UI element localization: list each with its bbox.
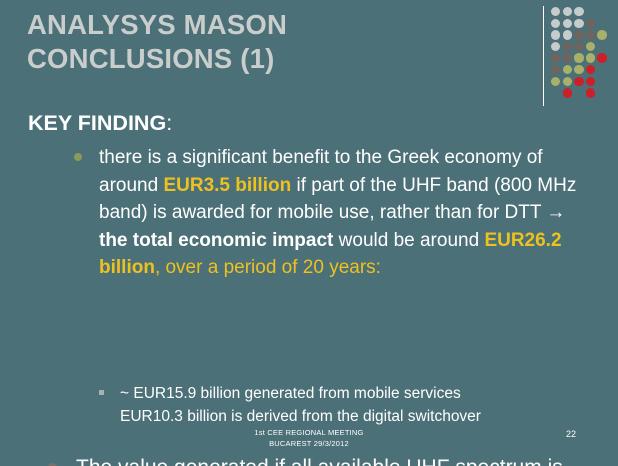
title-block: ANALYSYS MASON CONCLUSIONS (1): [27, 8, 527, 76]
text-run: →: [546, 202, 565, 223]
logo-dot: [586, 53, 595, 62]
logo-dot: [563, 53, 572, 62]
logo-dot: [574, 77, 583, 86]
logo-dot: [574, 42, 583, 51]
page-number: 22: [566, 429, 576, 439]
logo-dot: [597, 53, 606, 62]
logo-dot: [563, 77, 572, 86]
list-item: The value generated if all available UHF…: [48, 453, 618, 466]
sub-bullet-text: ~ EUR15.9 billion generated from mobile …: [120, 382, 580, 428]
text-run: would be around: [333, 230, 484, 251]
logo-dot: [586, 88, 595, 97]
logo-dot: [586, 42, 595, 51]
logo-dot: [574, 19, 583, 28]
text-run: The value generated if all available UHF…: [76, 456, 563, 466]
analysys-mason-dot-logo: [551, 7, 609, 99]
final-bullet-text: The value generated if all available UHF…: [76, 453, 616, 466]
key-finding-label: KEY FINDING: [28, 111, 166, 135]
logo-dot: [586, 77, 595, 86]
logo-dot: [551, 77, 560, 86]
header-divider: [543, 6, 544, 106]
logo-dot: [574, 30, 583, 39]
logo-dot: [551, 30, 560, 39]
sub-bullet-line: EUR10.3 billion is derived from the digi…: [120, 405, 580, 428]
text-run: EUR3.5 billion: [163, 175, 291, 196]
logo-dot: [563, 19, 572, 28]
text-run: the total economic impact: [99, 230, 333, 251]
logo-dot: [563, 65, 572, 74]
logo-dot: [586, 19, 595, 28]
text-run: , over a period of 20 years:: [155, 257, 381, 278]
sub-bullet-line: ~ EUR15.9 billion generated from mobile …: [120, 382, 580, 405]
logo-dot: [563, 42, 572, 51]
logo-dot: [563, 30, 572, 39]
logo-dot: [551, 19, 560, 28]
key-finding-colon: :: [166, 111, 172, 135]
footer-meeting-text: 1st CEE REGIONAL MEETING BUCAREST 29/3/2…: [0, 428, 618, 449]
logo-dot: [551, 7, 560, 16]
list-item: ~ EUR15.9 billion generated from mobile …: [99, 382, 599, 428]
logo-dot: [586, 30, 595, 39]
logo-dot: [551, 42, 560, 51]
list-item: there is a significant benefit to the Gr…: [74, 144, 594, 282]
page-title: ANALYSYS MASON CONCLUSIONS (1): [27, 8, 527, 76]
bullet-square-icon: [99, 390, 104, 395]
logo-dot: [574, 65, 583, 74]
logo-dot: [586, 65, 595, 74]
primary-bullet-text: there is a significant benefit to the Gr…: [99, 144, 583, 282]
key-finding-heading: KEY FINDING:: [28, 110, 172, 136]
bullet-dot-icon: [74, 153, 82, 161]
slide-canvas: ANALYSYS MASON CONCLUSIONS (1) KEY FINDI…: [0, 0, 618, 466]
logo-dot: [574, 7, 583, 16]
logo-dot: [551, 53, 560, 62]
logo-dot: [551, 65, 560, 74]
logo-dot: [563, 88, 572, 97]
logo-dot: [563, 7, 572, 16]
logo-dot: [597, 30, 606, 39]
logo-dot: [574, 53, 583, 62]
